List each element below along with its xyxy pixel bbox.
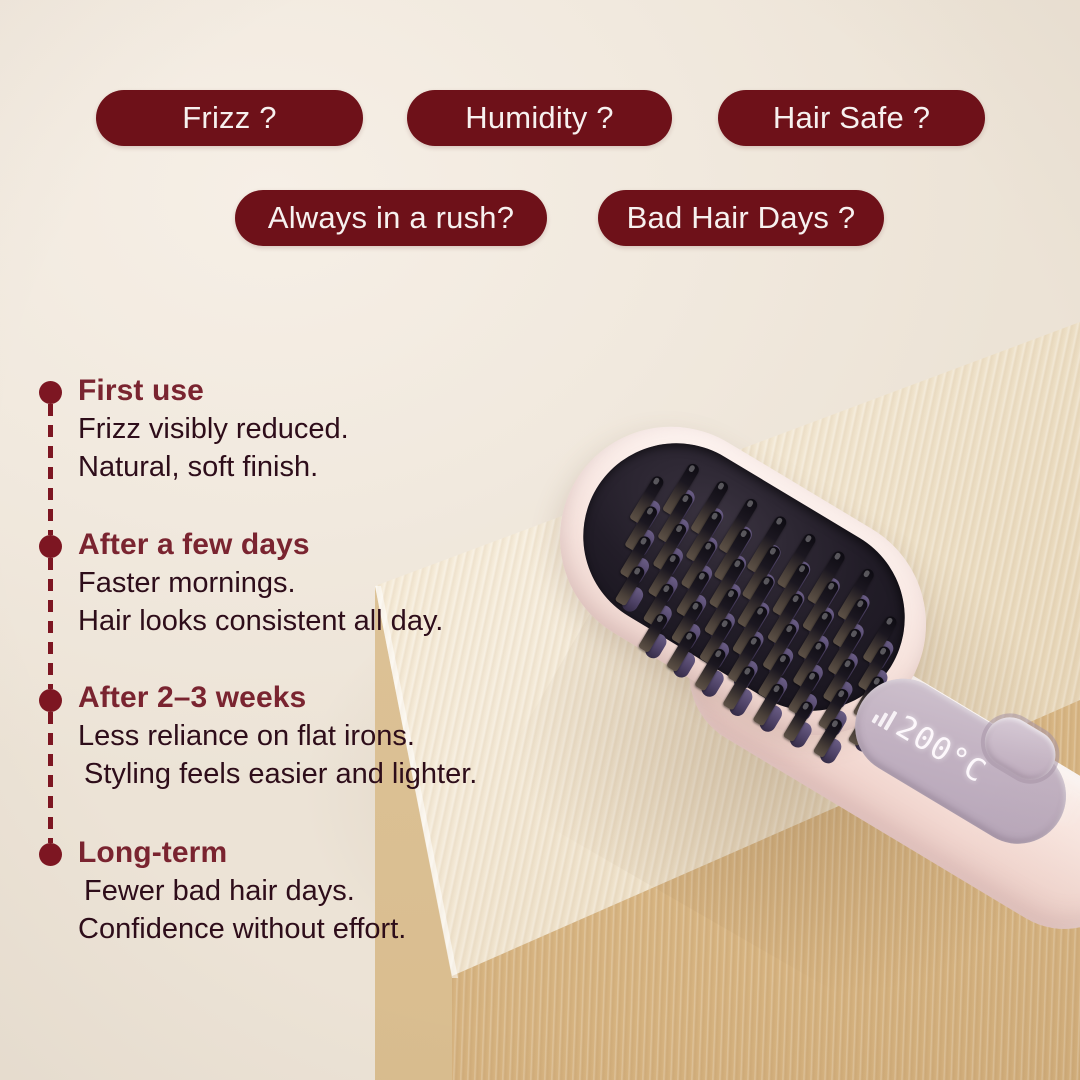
results-timeline: First use Frizz visibly reduced. Natural… bbox=[0, 0, 620, 1080]
timeline-item-long-term: Long-term Fewer bad hair days. Confidenc… bbox=[78, 837, 406, 948]
question-pill-label: Hair Safe ? bbox=[773, 100, 930, 136]
question-pill-label: Bad Hair Days ? bbox=[627, 200, 856, 236]
timeline-item-title: After 2–3 weeks bbox=[78, 682, 477, 714]
timeline-item-line2: Natural, soft finish. bbox=[78, 448, 349, 486]
timeline-item-after-a-few-days: After a few days Faster mornings. Hair l… bbox=[78, 529, 443, 640]
timeline-item-line2: Confidence without effort. bbox=[78, 910, 406, 948]
timeline-item-line2: Styling feels easier and lighter. bbox=[78, 755, 477, 793]
question-pill-bad-hair-days[interactable]: Bad Hair Days ? bbox=[598, 190, 884, 246]
timeline-connector bbox=[48, 558, 53, 689]
timeline-connector bbox=[48, 712, 53, 843]
timeline-item-line1: Fewer bad hair days. bbox=[78, 872, 406, 910]
timeline-item-line1: Faster mornings. bbox=[78, 564, 443, 602]
timeline-dot bbox=[39, 381, 62, 404]
timeline-item-after-2-3-weeks: After 2–3 weeks Less reliance on flat ir… bbox=[78, 682, 477, 793]
temperature-readout: 200°C bbox=[890, 709, 993, 791]
timeline-dot bbox=[39, 843, 62, 866]
timeline-connector bbox=[48, 404, 53, 535]
timeline-item-line2: Hair looks consistent all day. bbox=[78, 602, 443, 640]
promo-image-canvas: 200°C Frizz ? Humidity ? Hair Safe ? Alw… bbox=[0, 0, 1080, 1080]
timeline-item-title: Long-term bbox=[78, 837, 406, 869]
timeline-item-line1: Less reliance on flat irons. bbox=[78, 717, 477, 755]
timeline-item-first-use: First use Frizz visibly reduced. Natural… bbox=[78, 375, 349, 486]
heat-level-bars-icon bbox=[871, 701, 899, 731]
timeline-dot bbox=[39, 535, 62, 558]
timeline-item-line1: Frizz visibly reduced. bbox=[78, 410, 349, 448]
timeline-dot bbox=[39, 689, 62, 712]
timeline-item-title: First use bbox=[78, 375, 349, 407]
timeline-item-title: After a few days bbox=[78, 529, 443, 561]
question-pill-hair-safe[interactable]: Hair Safe ? bbox=[718, 90, 985, 146]
